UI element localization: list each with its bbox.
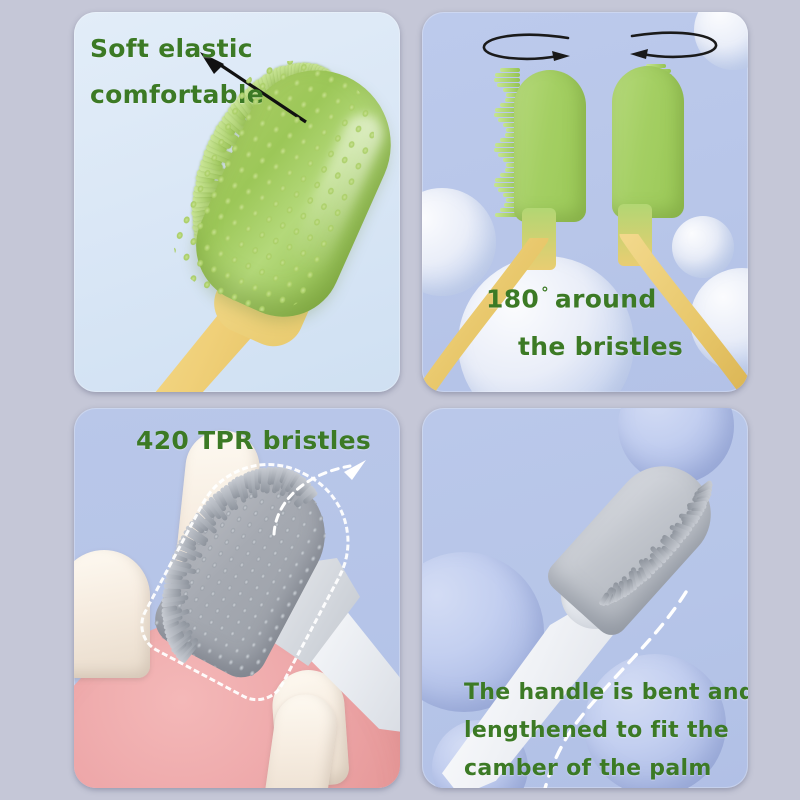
- caption-handle-line1: The handle is bent and: [464, 680, 748, 705]
- handle-curve-left: [422, 238, 572, 392]
- rotation-arrow-left-icon: [478, 30, 582, 70]
- degree-symbol: °: [539, 284, 555, 302]
- brush-head-left: [514, 70, 586, 222]
- caption-around-word: around: [555, 284, 657, 313]
- panel-soft-elastic: Soft elastic comfortable: [74, 12, 400, 392]
- caption-180-number: 180: [486, 284, 539, 313]
- rotation-arrow-right-icon: [618, 28, 722, 68]
- panel-180-around: 180°around the bristles: [422, 12, 748, 392]
- caption-handle-line3: camber of the palm: [464, 756, 712, 781]
- brush-head-right: [612, 66, 684, 218]
- caption-the-bristles: the bristles: [518, 332, 683, 361]
- dashed-curved-arrow-icon: [266, 456, 376, 538]
- caption-soft-elastic-line1: Soft elastic: [90, 34, 253, 63]
- caption-420-tpr-bristles: 420 TPR bristles: [136, 426, 371, 455]
- infographic-board: Soft elastic comfortable: [0, 0, 800, 800]
- panel-420-tpr-bristles: 420 TPR bristles: [74, 408, 400, 788]
- caption-handle-line2: lengthened to fit the: [464, 718, 729, 743]
- soft-elastic-illustration: [74, 12, 400, 392]
- caption-180-around: 180°around: [486, 284, 657, 313]
- panel-bent-handle: The handle is bent and lengthened to fit…: [422, 408, 748, 788]
